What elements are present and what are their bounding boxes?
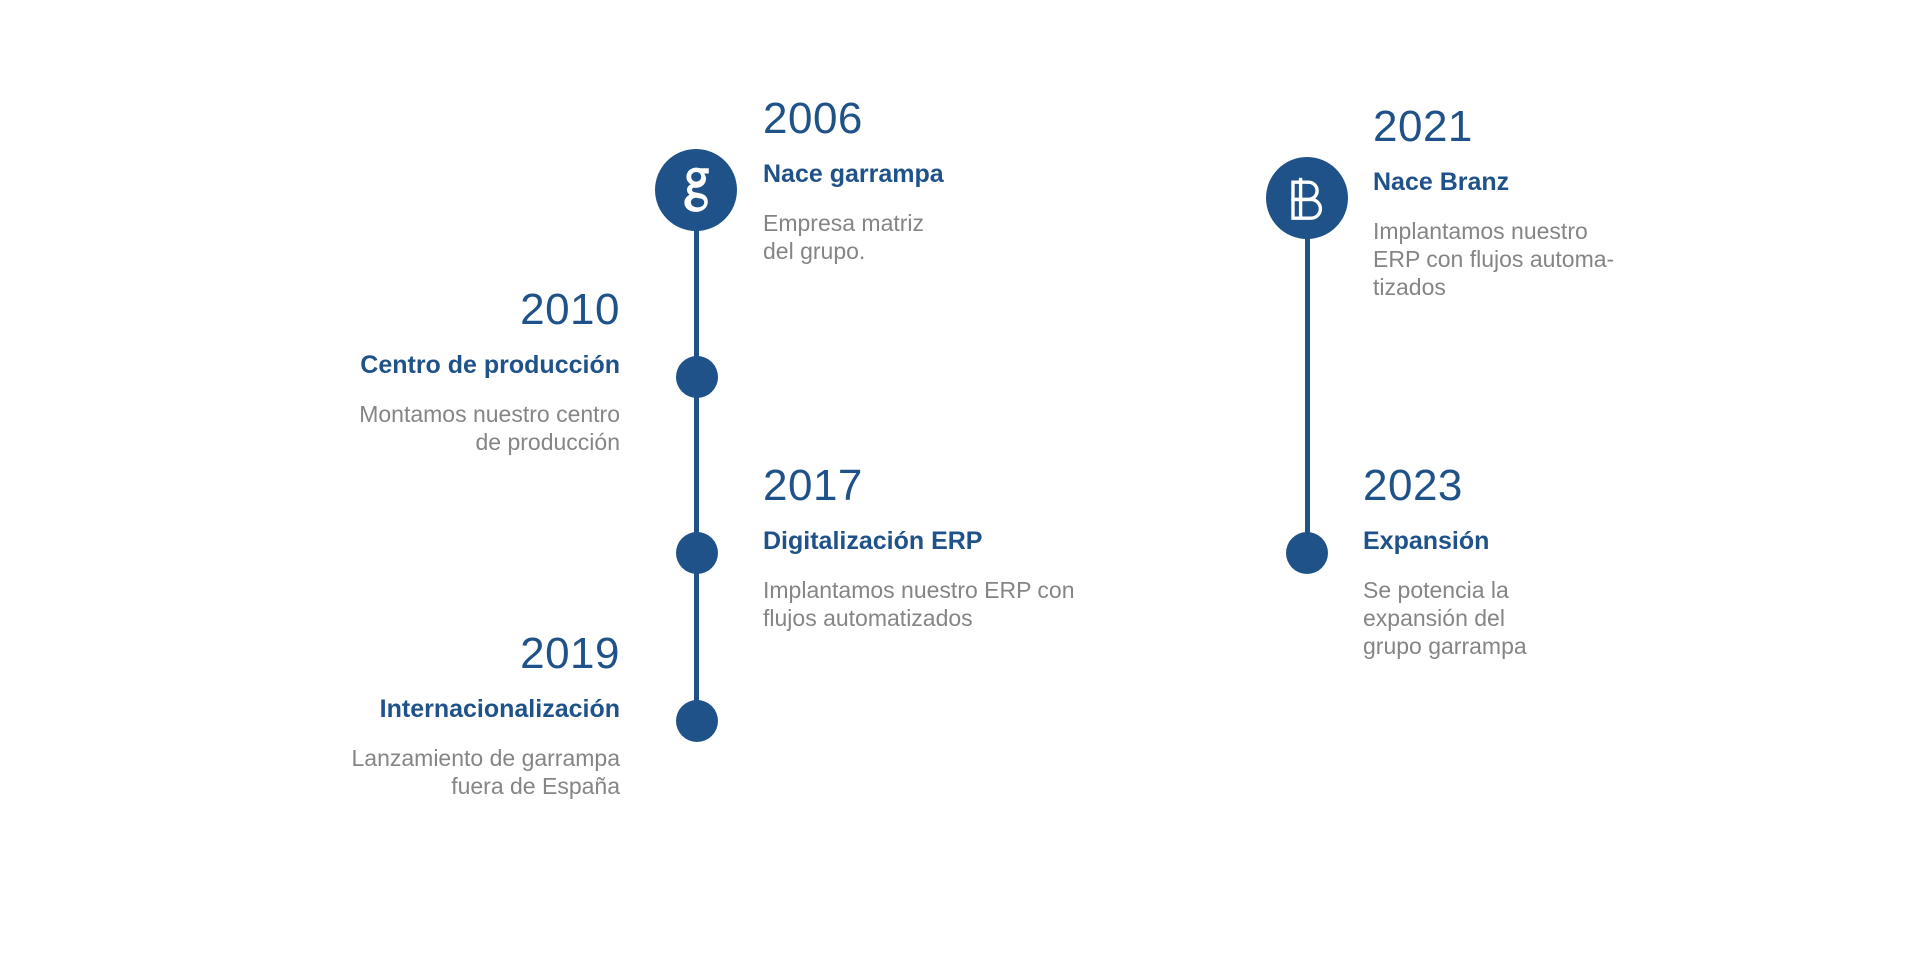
timeline-entry-2010: 2010 Centro de producción Montamos nuest…	[120, 288, 620, 456]
timeline-entry-2017: 2017 Digitalización ERP Implantamos nues…	[763, 464, 1223, 632]
entry-body-line: grupo garrampa	[1363, 632, 1743, 660]
garrampa-node-2010[interactable]	[676, 356, 718, 398]
garrampa-node-2017[interactable]	[676, 532, 718, 574]
entry-year: 2021	[1373, 105, 1753, 149]
branz-logo-node[interactable]	[1266, 157, 1348, 239]
entry-year: 2017	[763, 464, 1223, 508]
garrampa-logo-node[interactable]	[655, 149, 737, 231]
entry-body-line: flujos automatizados	[763, 604, 1223, 632]
garrampa-logo-g-icon	[679, 166, 713, 214]
entry-body: Montamos nuestro centro de producción	[120, 400, 620, 456]
entry-body-line: expansión del	[1363, 604, 1743, 632]
entry-body: Implantamos nuestro ERP con flujos autom…	[1373, 217, 1753, 301]
entry-body: Empresa matriz del grupo.	[763, 209, 1183, 265]
entry-headline: Internacionalización	[120, 695, 620, 724]
entry-body-line: Se potencia la	[1363, 576, 1743, 604]
timeline-entry-2006: 2006 Nace garrampa Empresa matriz del gr…	[763, 97, 1183, 265]
entry-body-line: tizados	[1373, 273, 1753, 301]
entry-body-line: del grupo.	[763, 237, 1183, 265]
entry-headline: Expansión	[1363, 527, 1743, 556]
garrampa-node-2019[interactable]	[676, 700, 718, 742]
entry-body-line: ERP con flujos automa-	[1373, 245, 1753, 273]
entry-body-line: de producción	[120, 428, 620, 456]
entry-body-line: Montamos nuestro centro	[120, 400, 620, 428]
timeline-entry-2019: 2019 Internacionalización Lanzamiento de…	[120, 632, 620, 800]
entry-headline: Digitalización ERP	[763, 527, 1223, 556]
entry-body-line: fuera de España	[120, 772, 620, 800]
entry-body-line: Empresa matriz	[763, 209, 1183, 237]
timeline-infographic: 2006 Nace garrampa Empresa matriz del gr…	[0, 0, 1920, 976]
entry-year: 2023	[1363, 464, 1743, 508]
entry-year: 2006	[763, 97, 1183, 141]
garrampa-timeline-rail	[694, 190, 699, 735]
entry-body: Lanzamiento de garrampa fuera de España	[120, 744, 620, 800]
entry-year: 2010	[120, 288, 620, 332]
timeline-entry-2021: 2021 Nace Branz Implantamos nuestro ERP …	[1373, 105, 1753, 301]
entry-body-line: Implantamos nuestro ERP con	[763, 576, 1223, 604]
entry-headline: Nace Branz	[1373, 168, 1753, 197]
timeline-entry-2023: 2023 Expansión Se potencia la expansión …	[1363, 464, 1743, 660]
entry-headline: Nace garrampa	[763, 160, 1183, 189]
entry-body-line: Lanzamiento de garrampa	[120, 744, 620, 772]
entry-body: Implantamos nuestro ERP con flujos autom…	[763, 576, 1223, 632]
entry-year: 2019	[120, 632, 620, 676]
entry-body: Se potencia la expansión del grupo garra…	[1363, 576, 1743, 660]
entry-headline: Centro de producción	[120, 351, 620, 380]
branz-logo-b-icon	[1287, 176, 1327, 220]
branz-timeline-rail	[1305, 198, 1310, 570]
branz-node-2023[interactable]	[1286, 532, 1328, 574]
entry-body-line: Implantamos nuestro	[1373, 217, 1753, 245]
